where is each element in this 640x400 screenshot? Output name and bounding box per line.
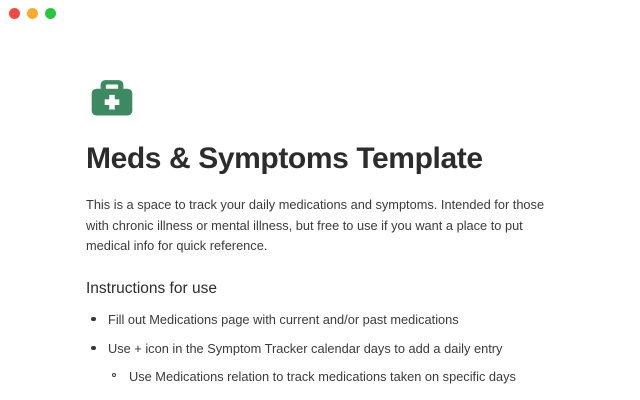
list-item-label: Fill out Medications page with current a… (108, 312, 459, 327)
list-item: Use Symptoms relation to track symptom o… (108, 397, 580, 400)
first-aid-kit-icon (86, 70, 138, 122)
list-item-label: Use + icon in the Symptom Tracker calend… (108, 341, 502, 356)
sub-instructions-list: Use Medications relation to track medica… (108, 367, 580, 400)
page-content: Meds & Symptoms Template This is a space… (0, 26, 640, 400)
close-window-button[interactable] (9, 8, 20, 19)
instructions-list: Fill out Medications page with current a… (86, 310, 580, 400)
bullet-circle-icon (112, 373, 116, 377)
window-titlebar (0, 0, 640, 26)
app-window: Meds & Symptoms Template This is a space… (0, 0, 640, 400)
traffic-light-group (9, 8, 56, 19)
list-item: Use + icon in the Symptom Tracker calend… (86, 339, 580, 400)
section-heading-instructions: Instructions for use (86, 279, 580, 299)
bullet-disc-icon (91, 346, 96, 351)
page-title: Meds & Symptoms Template (86, 142, 580, 176)
document-page: Meds & Symptoms Template This is a space… (0, 26, 640, 400)
page-description: This is a space to track your daily medi… (86, 195, 566, 257)
list-item: Use Medications relation to track medica… (108, 367, 580, 386)
list-item-label: Use Medications relation to track medica… (129, 369, 516, 384)
bullet-disc-icon (91, 317, 96, 322)
minimize-window-button[interactable] (27, 8, 38, 19)
list-item: Fill out Medications page with current a… (86, 310, 580, 329)
maximize-window-button[interactable] (45, 8, 56, 19)
